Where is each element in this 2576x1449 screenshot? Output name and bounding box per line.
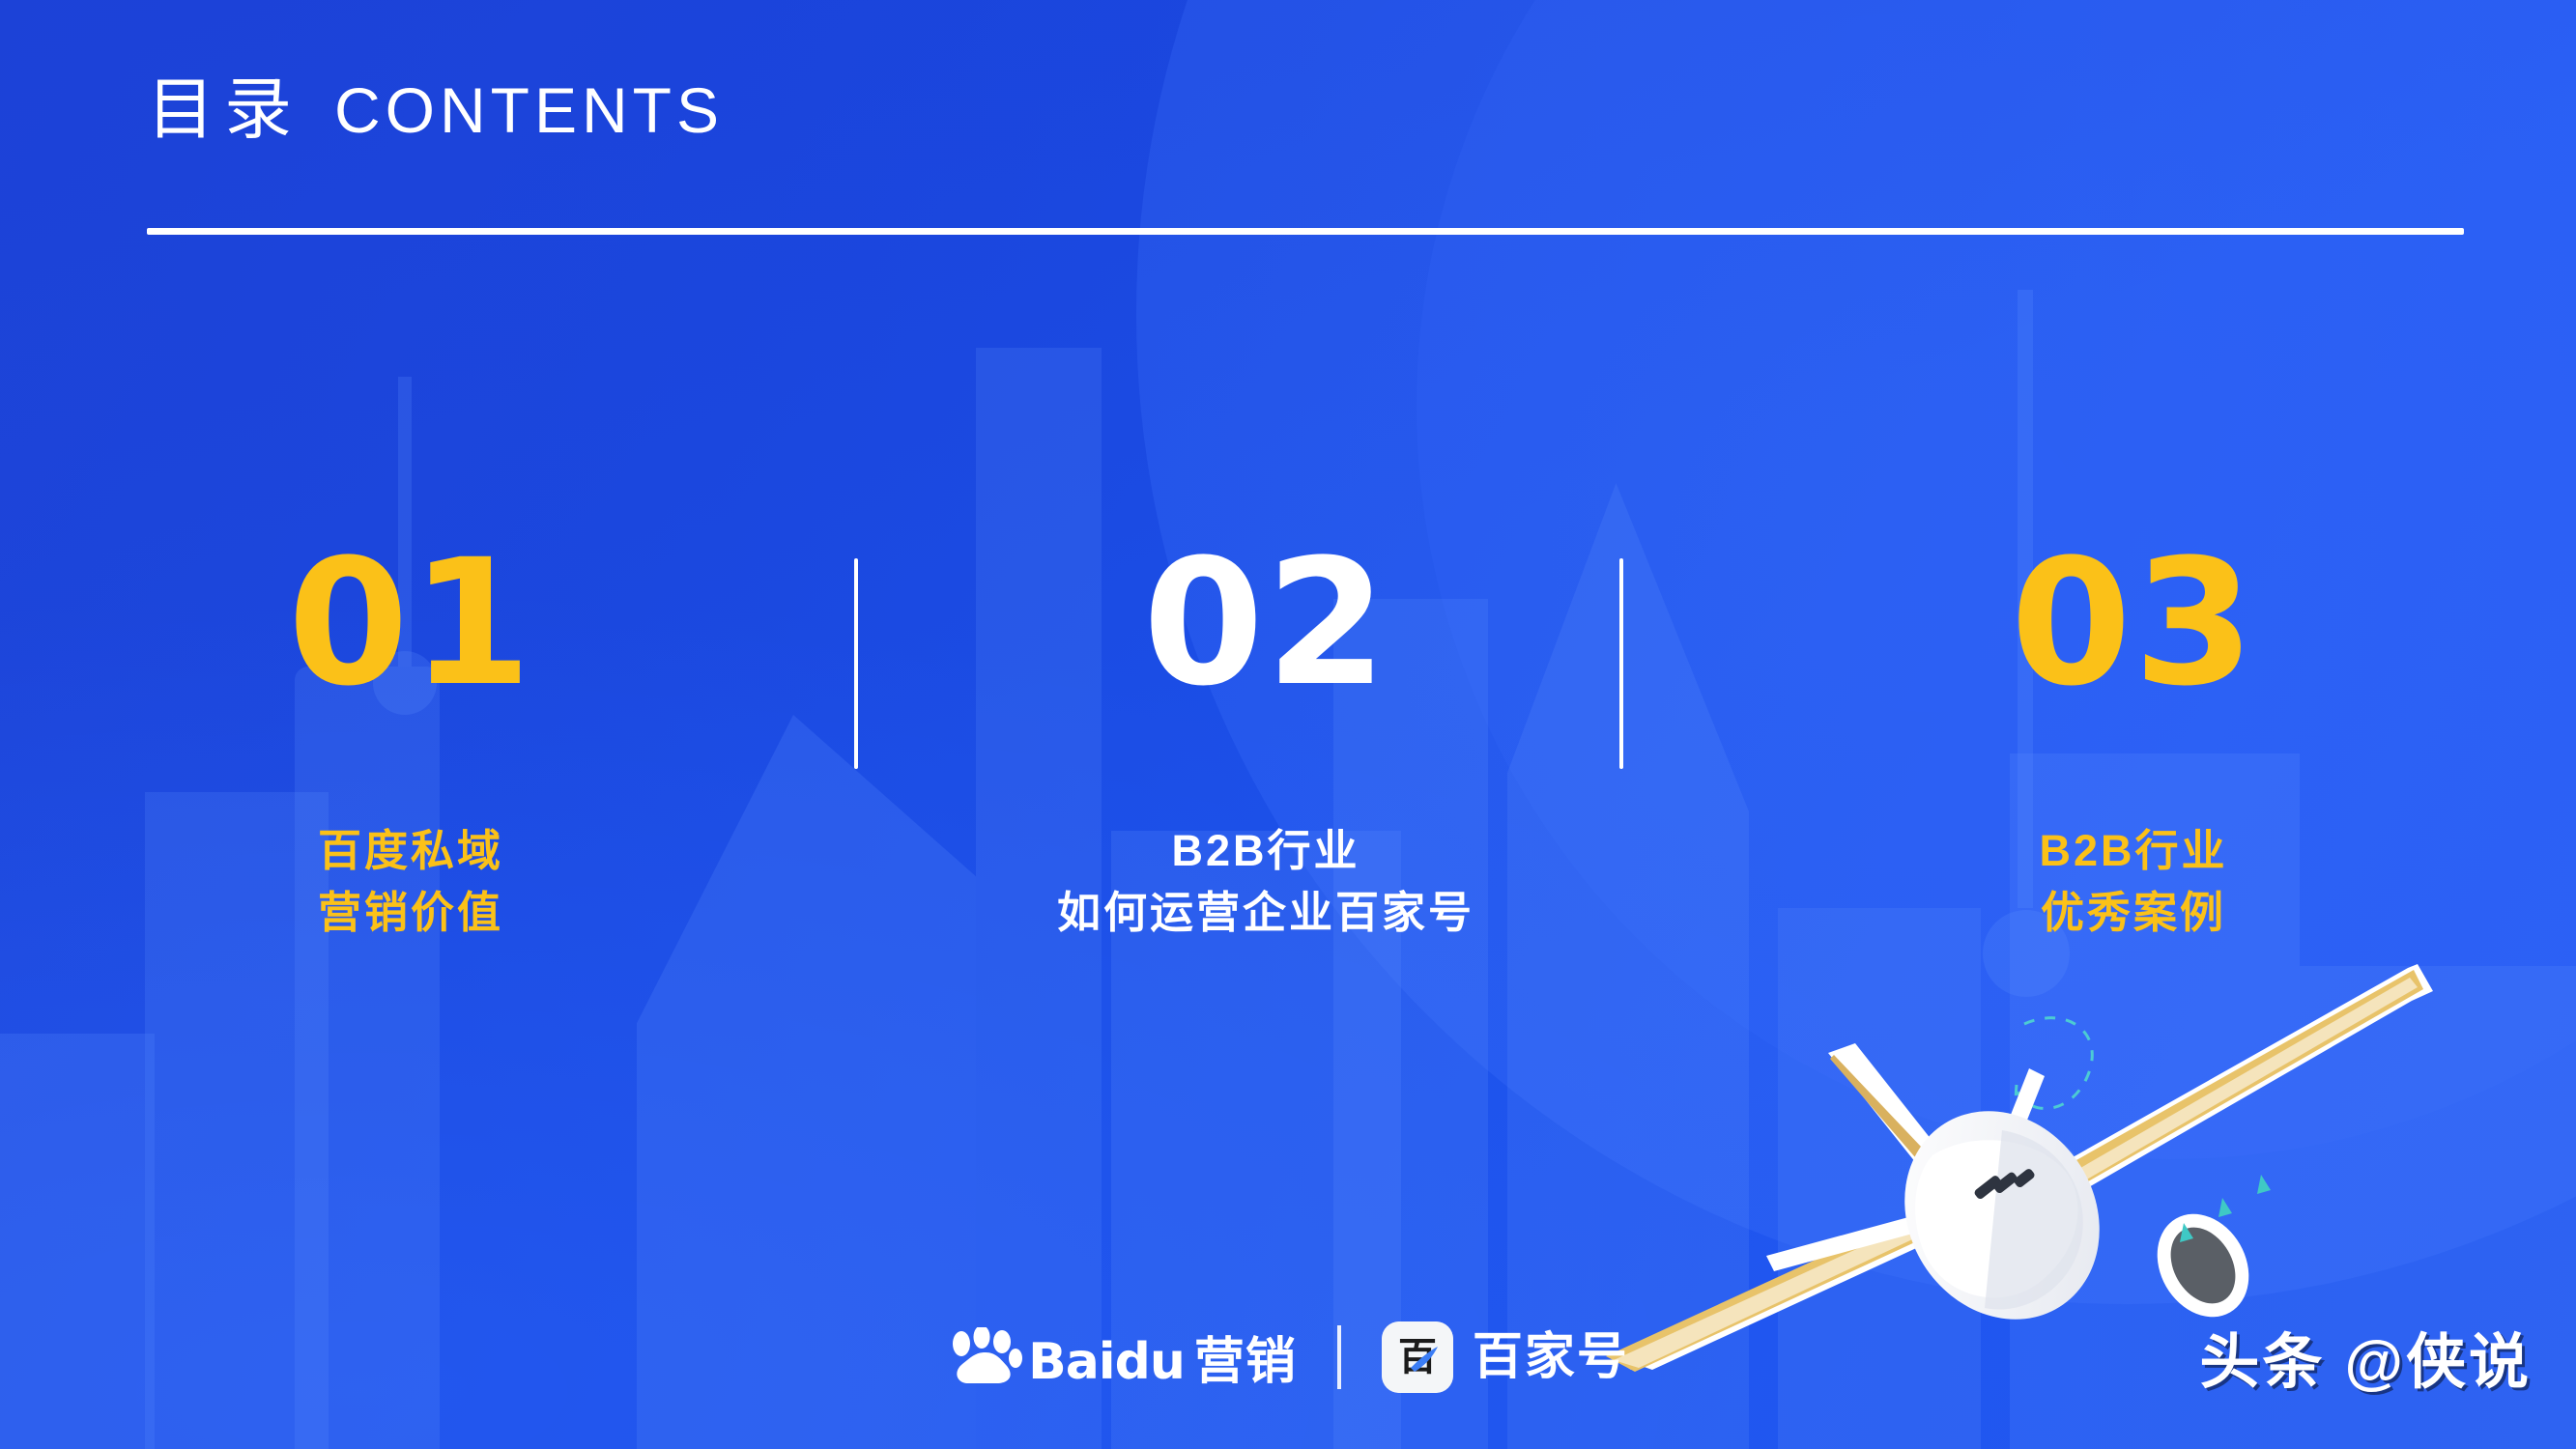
footer-logos: Baidu 营销 百 百家号 (0, 1321, 2576, 1393)
baidu-bear-paw-icon (947, 1327, 1022, 1387)
contents-item-02[interactable]: 02 B2B行业 如何运营企业百家号 (734, 541, 1797, 944)
watermark-toutiao: 头条 @侠说 (2199, 1333, 2532, 1393)
contents-number-03: 03 (1797, 541, 2470, 706)
contents-slide: 目录 CONTENTS 01 百度私域 营销价值 02 B2B行业 如何运营企业… (0, 0, 2576, 1449)
contents-item-03[interactable]: 03 B2B行业 优秀案例 (1797, 541, 2576, 944)
baijiahao-logo: 百 百家号 (1382, 1321, 1629, 1393)
contents-label-03: B2B行业 优秀案例 (1797, 820, 2470, 944)
baidu-wordmark: Baidu (1028, 1337, 1185, 1387)
contents-label-01: 百度私域 营销价值 (87, 820, 734, 944)
page-title-cn: 目录 (147, 75, 301, 143)
contents-columns: 01 百度私域 营销价值 02 B2B行业 如何运营企业百家号 03 B2B行业… (0, 541, 2576, 944)
column-divider-1 (854, 558, 858, 769)
page-title-en: CONTENTS (334, 78, 724, 142)
contents-label-02: B2B行业 如何运营企业百家号 (734, 820, 1797, 944)
contents-number-02: 02 (734, 541, 1797, 706)
column-divider-2 (1619, 558, 1623, 769)
baijiahao-label: 百家号 (1473, 1332, 1629, 1382)
page-title: 目录 CONTENTS (147, 75, 724, 143)
contents-number-01: 01 (87, 541, 734, 706)
title-divider-rule (147, 228, 2464, 235)
baidu-marketing-logo: Baidu 营销 (947, 1327, 1297, 1387)
svg-text:百: 百 (1398, 1335, 1437, 1379)
logo-separator (1337, 1325, 1341, 1389)
baijiahao-app-icon: 百 (1382, 1321, 1453, 1393)
airplane-illustration (1585, 947, 2454, 1391)
baidu-marketing-label: 营销 (1194, 1337, 1297, 1387)
contents-item-01[interactable]: 01 百度私域 营销价值 (0, 541, 734, 944)
